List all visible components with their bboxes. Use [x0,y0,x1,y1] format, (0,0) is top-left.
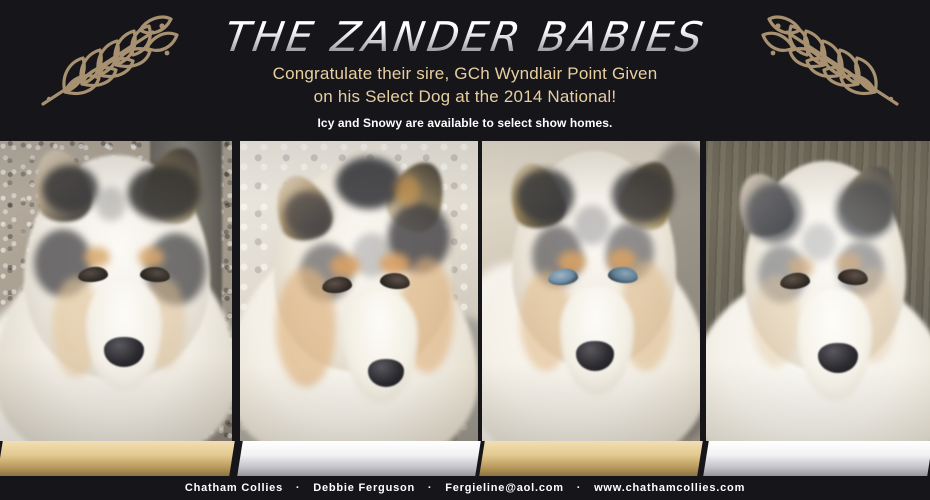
subtitle-line-2: on his Select Dog at the 2014 National! [0,85,930,108]
banner-footer: Chatham Collies · Debbie Ferguson · Ferg… [0,476,930,500]
photo-icy[interactable] [240,141,478,441]
banner-subtitle: Congratulate their sire, GCh Wyndlair Po… [0,62,930,108]
photo-ringo[interactable] [0,141,232,441]
puppy-name-strip: RINGO ICY FRECKLES SNOWY [0,441,930,476]
photo-snowy[interactable] [706,141,930,441]
zander-babies-banner: THE ZANDER BABIES Congratulate their sir… [0,0,930,500]
banner-title: THE ZANDER BABIES [0,14,930,60]
photo-freckles[interactable] [482,141,700,441]
footer-website[interactable]: www.chathamcollies.com [594,482,745,494]
availability-note: Icy and Snowy are available to select sh… [0,116,930,130]
subtitle-line-1: Congratulate their sire, GCh Wyndlair Po… [273,64,658,83]
footer-separator: · [428,482,432,494]
puppy-name-snowy: SNOWY [703,441,930,476]
footer-email[interactable]: Fergieline@aol.com [445,482,564,494]
puppy-photo-row [0,141,930,441]
banner-header: THE ZANDER BABIES Congratulate their sir… [0,0,930,141]
footer-separator: · [296,482,300,494]
footer-owner: Debbie Ferguson [313,482,415,494]
puppy-name-icy: ICY [237,441,481,476]
puppy-name-ringo: RINGO [0,441,235,476]
puppy-name-freckles: FRECKLES [479,441,703,476]
footer-separator: · [577,482,581,494]
footer-kennel: Chatham Collies [185,482,283,494]
